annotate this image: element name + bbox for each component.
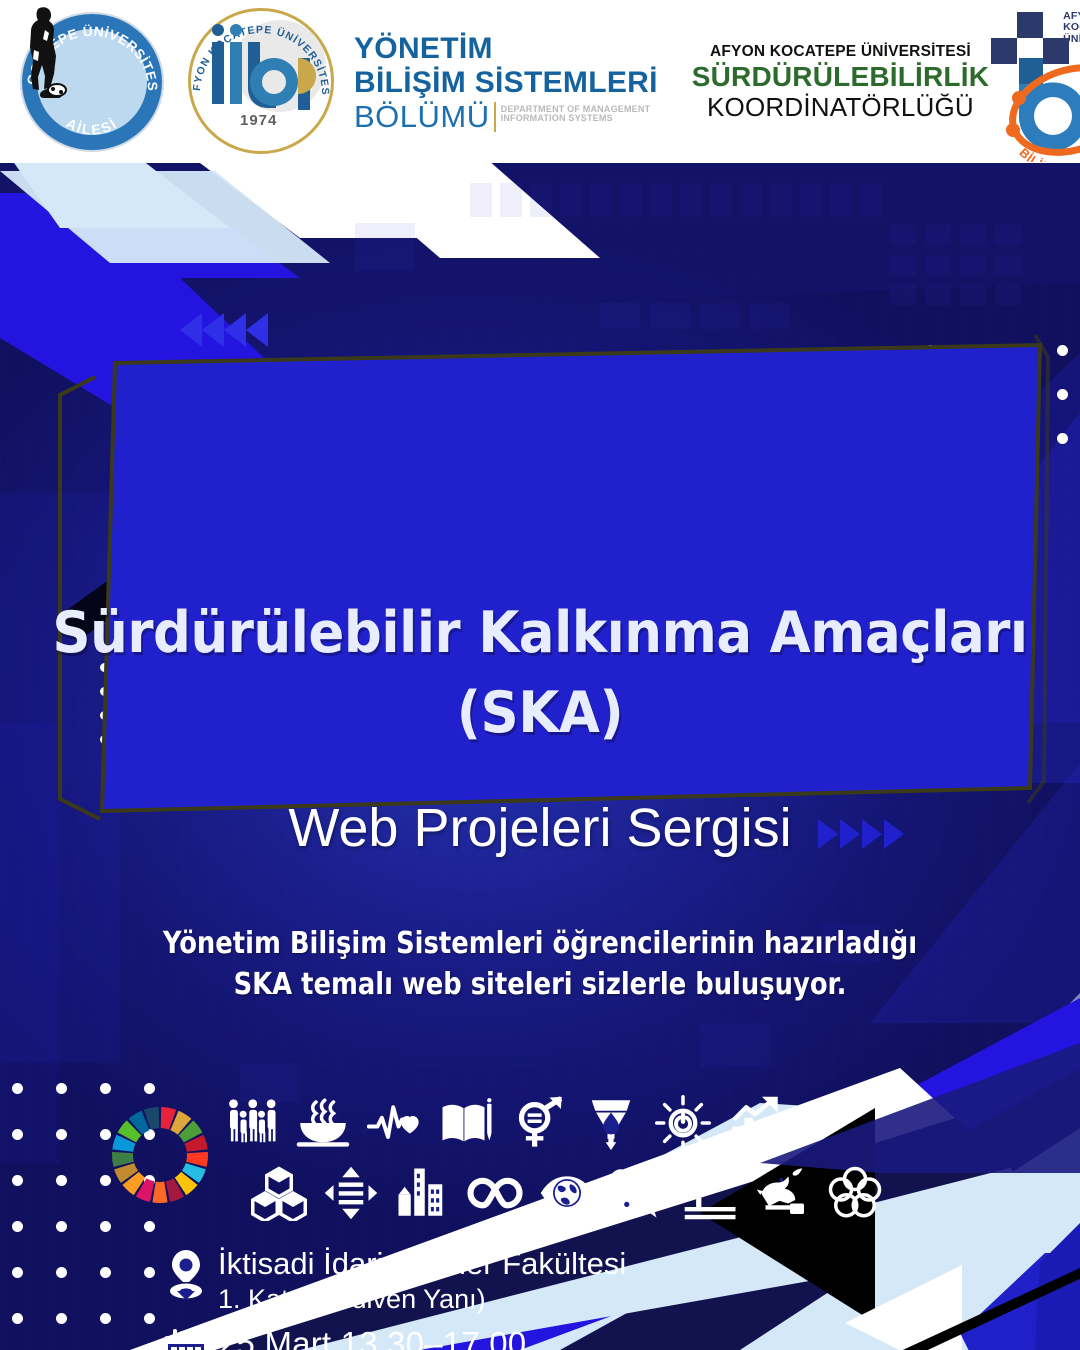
no-poverty-icon [223, 1095, 279, 1151]
date-row: 25 Mart 13.30–17.00 Sergi Açılışı: Saat … [160, 1324, 626, 1350]
svg-text:AİLESİ: AİLESİ [64, 114, 121, 137]
mis-english-label: DEPARTMENT OF MANAGEMENT INFORMATION SYS… [501, 101, 651, 124]
peace-justice-icon [755, 1165, 811, 1221]
mis-line1: YÖNETİM [354, 32, 658, 66]
sdg-wheel-segment [152, 1182, 167, 1203]
triangle-right-cluster [818, 819, 908, 853]
life-below-water-icon [611, 1165, 667, 1221]
decent-work-icon [727, 1095, 783, 1151]
location-text: İktisadi İdari Bilimler Fakültesi 1. Kat… [212, 1245, 626, 1316]
date-line1: 25 Mart 13.30–17.00 [218, 1324, 526, 1350]
seal-bottom-text: AİLESİ [64, 114, 121, 137]
logo-bilisim-toplulugu: BİLİŞİM TOPLULUĞU AFYON KOCATEPE ÜNİVERS… [989, 2, 1080, 162]
calendar-icon [160, 1324, 212, 1350]
industry-innovation-icon [251, 1165, 307, 1221]
mis-divider [494, 102, 496, 132]
poster-title-line2: (SKA) [38, 673, 1042, 753]
sustainability-line2: SÜRDÜRÜLEBİLİRLİK [692, 61, 989, 92]
mis-line2: BİLİŞİM SİSTEMLERİ [354, 66, 658, 100]
iibf-monogram-icon [200, 20, 330, 120]
logo-iibf-seal: AFYON KOCATEPE ÜNİVERSİTESİ 1974 [178, 2, 346, 162]
climate-action-icon [539, 1165, 595, 1221]
poster-body: Sürdürülebilir Kalkınma Amaçları (SKA) W… [0, 163, 1080, 1350]
poster-title-line1: Sürdürülebilir Kalkınma Amaçları [38, 593, 1042, 673]
logo-sustainability-coordinator: AFYON KOCATEPE ÜNİVERSİTESİ SÜRDÜRÜLEBİL… [692, 42, 989, 122]
header-logo-bar: KOCATEPE ÜNİVERSİTESİ AİLESİ AFY [0, 0, 1080, 163]
poster-description-line2: SKA temalı web siteleri sizlerle buluşuy… [76, 964, 1005, 1005]
clean-water-icon [583, 1095, 639, 1151]
date-text: 25 Mart 13.30–17.00 Sergi Açılışı: Saat … [212, 1324, 526, 1350]
logo-mis-wordmark: YÖNETİM BİLİŞİM SİSTEMLERİ BÖLÜMÜ DEPART… [354, 32, 658, 132]
gender-equality-icon [511, 1095, 567, 1151]
map-pin-icon [160, 1245, 212, 1301]
poster-description: Yönetim Bilişim Sistemleri öğrencilerini… [76, 923, 1005, 1005]
zero-hunger-icon [295, 1095, 351, 1151]
poster-title: Sürdürülebilir Kalkınma Amaçları (SKA) [38, 593, 1042, 753]
poster-subtitle: Web Projeleri Sergisi [0, 797, 1080, 859]
bilisim-label-line3: ÜNİVERSİTESİ [1063, 34, 1080, 46]
sustainable-cities-icon [395, 1165, 451, 1221]
mis-line3: BÖLÜMÜ [354, 101, 490, 132]
location-row: İktisadi İdari Bilimler Fakültesi 1. Kat… [160, 1245, 626, 1316]
poster-root: KOCATEPE ÜNİVERSİTESİ AİLESİ AFY [0, 0, 1080, 1350]
good-health-icon [367, 1095, 423, 1151]
logo-kocatepe-ailesi: KOCATEPE ÜNİVERSİTESİ AİLESİ [14, 6, 174, 158]
bilisim-label-line2: KOCATEPE [1063, 22, 1080, 34]
soldier-figure-icon [14, 6, 70, 98]
location-line2: 1. Kat (Merdiven Yanı) [218, 1282, 626, 1316]
bilisim-university-label: AFYON KOCATEPE ÜNİVERSİTESİ [1063, 11, 1080, 46]
quality-education-icon [439, 1095, 495, 1151]
affordable-energy-icon [655, 1095, 711, 1151]
iibf-year-label: 1974 [240, 112, 277, 129]
sustainability-line3: KOORDİNATÖRLÜĞÜ [692, 92, 989, 122]
sdg-icon-row-1 [223, 1093, 843, 1153]
location-line1: İktisadi İdari Bilimler Fakültesi [218, 1245, 626, 1282]
partnerships-icon [827, 1165, 883, 1221]
reduced-inequalities-icon [323, 1165, 379, 1221]
poster-description-line1: Yönetim Bilişim Sistemleri öğrencilerini… [76, 923, 1005, 964]
responsible-consumption-icon [467, 1165, 523, 1221]
sdg-colour-wheel-icon [110, 1105, 210, 1205]
sustainability-line1: AFYON KOCATEPE ÜNİVERSİTESİ [692, 42, 989, 61]
sdg-icon-row-2 [223, 1163, 843, 1223]
event-info-block: İktisadi İdari Bilimler Fakültesi 1. Kat… [160, 1245, 626, 1350]
life-on-land-icon [683, 1165, 739, 1221]
